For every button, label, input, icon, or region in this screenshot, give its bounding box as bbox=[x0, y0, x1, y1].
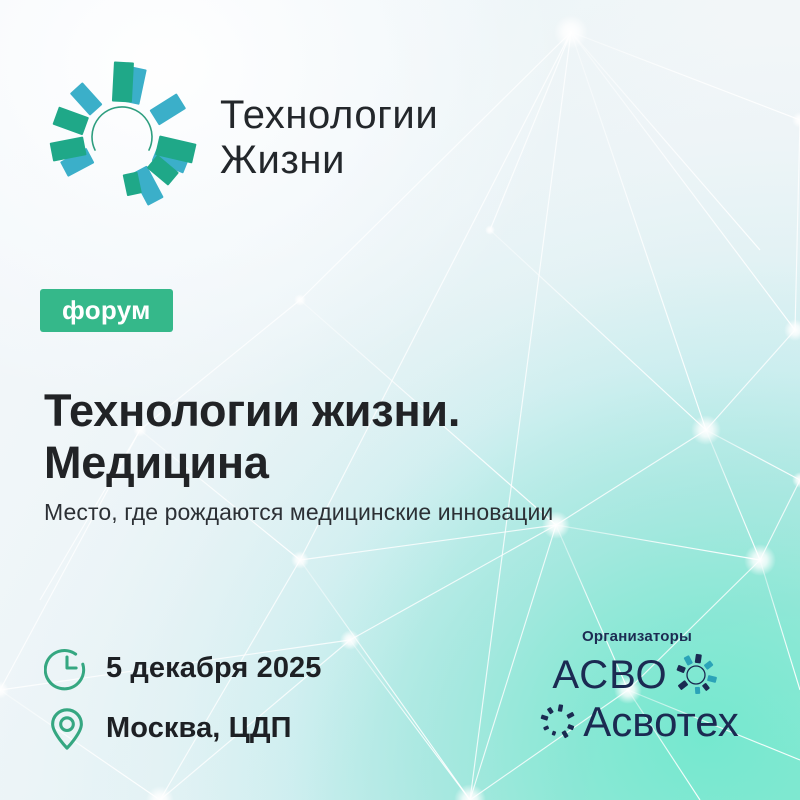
organizer-asvo-name: АСВО bbox=[552, 655, 667, 695]
event-meta: 5 декабря 2025 Москва, ЦДП bbox=[44, 645, 322, 751]
page-title: Технологии жизни. Медицина bbox=[44, 385, 460, 489]
forum-badge: форум bbox=[40, 289, 173, 332]
event-date: 5 декабря 2025 bbox=[106, 652, 322, 685]
organizer-asvo: АСВО bbox=[552, 649, 721, 701]
event-location: Москва, ЦДП bbox=[106, 712, 292, 745]
event-date-row: 5 декабря 2025 bbox=[44, 645, 322, 691]
organizer-asvoteh: Асвотех bbox=[535, 699, 739, 745]
asvo-sunburst-icon bbox=[670, 649, 722, 701]
sunburst-petals-icon bbox=[42, 58, 202, 218]
brand-name: Технологии Жизни bbox=[220, 93, 438, 183]
asvoteh-sunburst-icon bbox=[535, 699, 581, 745]
organizers-label: Организаторы bbox=[582, 628, 692, 645]
organizers-block: Организаторы АСВО bbox=[522, 628, 752, 745]
event-poster: Технологии Жизни форум Технологии жизни.… bbox=[0, 0, 800, 800]
page-subtitle: Место, где рождаются медицинские инновац… bbox=[44, 499, 553, 526]
event-location-row: Москва, ЦДП bbox=[44, 705, 322, 751]
organizer-asvoteh-name: Асвотех bbox=[583, 701, 739, 743]
map-pin-icon bbox=[44, 705, 90, 751]
brand-header: Технологии Жизни bbox=[42, 58, 438, 218]
clock-icon bbox=[44, 645, 90, 691]
